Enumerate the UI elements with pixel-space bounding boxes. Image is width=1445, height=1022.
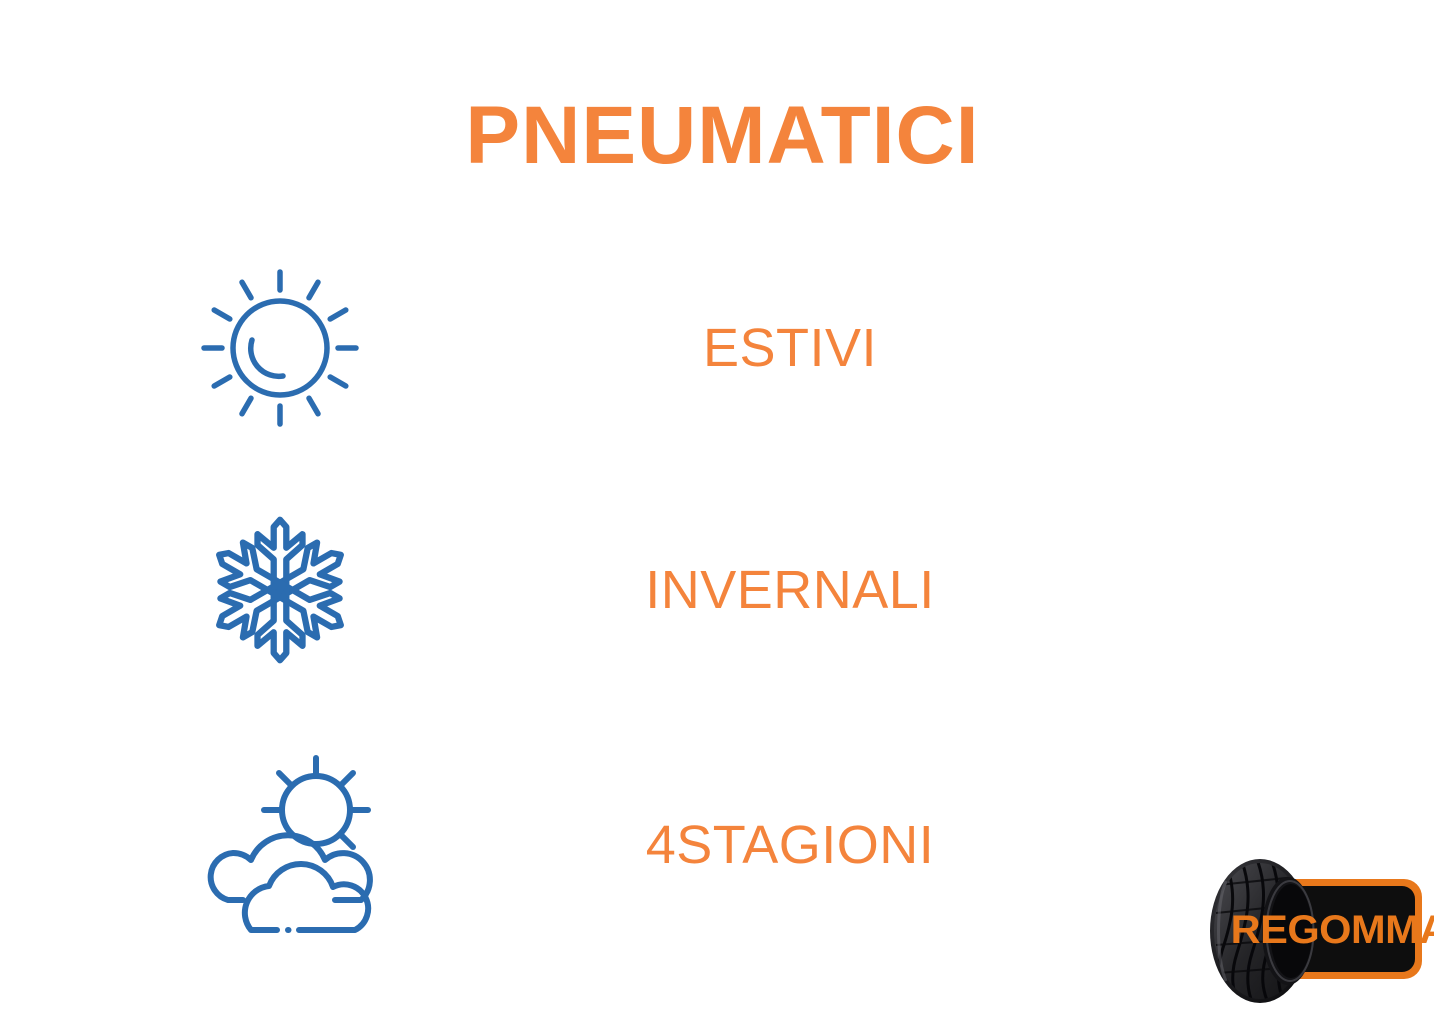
season-label-estivi: ESTIVI <box>410 321 1300 375</box>
snowflake-icon <box>150 490 410 690</box>
season-label-invernali: INVERNALI <box>410 563 1300 617</box>
season-row-4stagioni: 4STAGIONI <box>150 745 1300 945</box>
brand-logo: REGOMMA <box>1192 855 1434 1007</box>
season-row-invernali: INVERNALI <box>150 490 1300 690</box>
poster-canvas: PNEUMATICI <box>0 0 1445 1022</box>
page-title: PNEUMATICI <box>0 95 1445 177</box>
logo-wordmark: REGOMMA <box>1231 907 1434 952</box>
season-label-4stagioni: 4STAGIONI <box>410 818 1300 872</box>
sun-behind-clouds-icon <box>150 745 410 945</box>
sun-icon <box>150 248 410 448</box>
season-row-estivi: ESTIVI <box>150 248 1300 448</box>
